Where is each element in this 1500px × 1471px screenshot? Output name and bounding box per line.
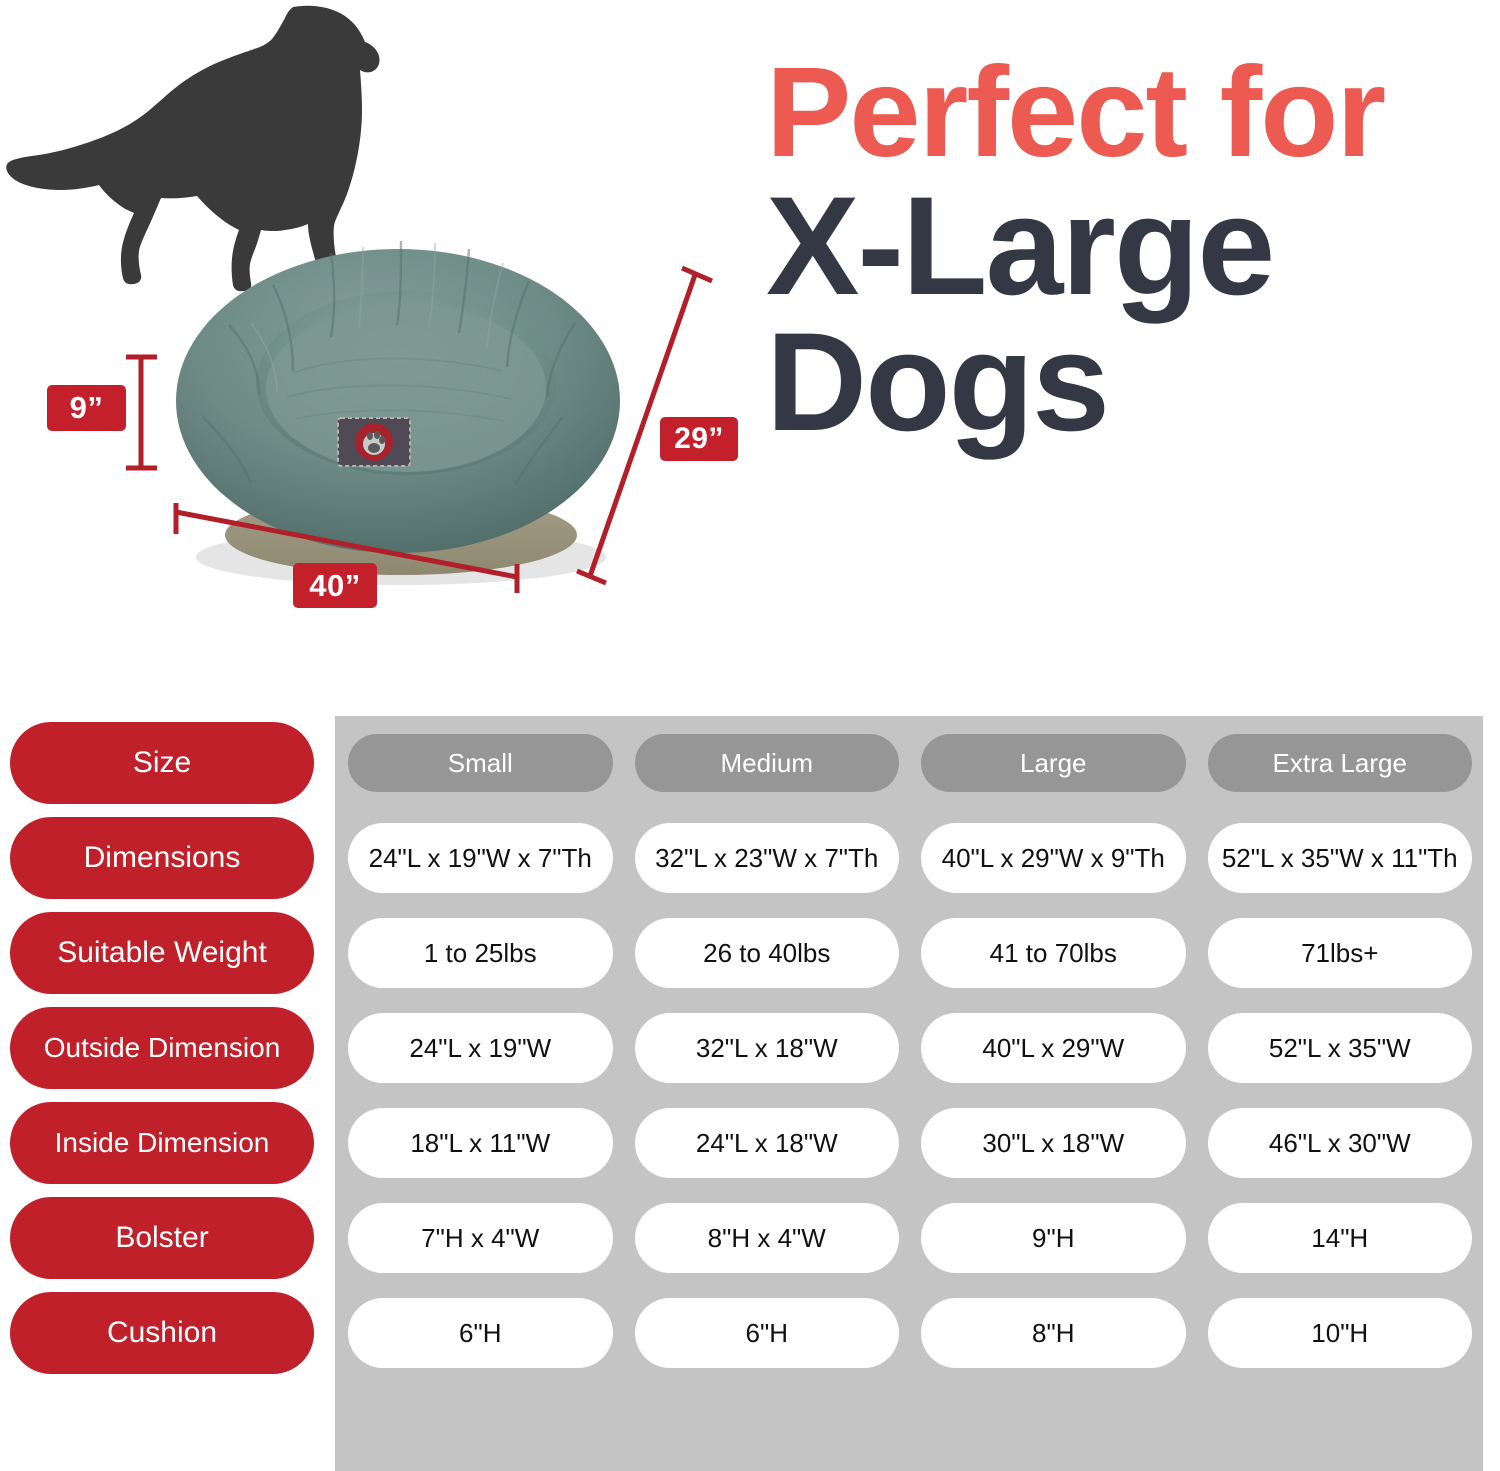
cell-suitable-weight-small: 1 to 25lbs xyxy=(348,918,613,988)
cell-bolster-large: 9"H xyxy=(921,1203,1186,1273)
headline-line-3: Dogs xyxy=(766,315,1496,449)
row-label-cushion: Cushion xyxy=(10,1292,314,1374)
row-label-inside-dimension: Inside Dimension xyxy=(10,1102,314,1184)
cell-suitable-weight-medium: 26 to 40lbs xyxy=(635,918,900,988)
table-header-row: Small Medium Large Extra Large xyxy=(348,722,1472,804)
table-row-label-column: Size Dimensions Suitable Weight Outside … xyxy=(10,722,314,1387)
cell-cushion-medium: 6"H xyxy=(635,1298,900,1368)
cell-cushion-extra-large: 10"H xyxy=(1208,1298,1473,1368)
headline-block: Perfect for X-Large Dogs xyxy=(766,52,1496,450)
table-row: 24"L x 19"W 32"L x 18"W 40"L x 29"W 52"L… xyxy=(348,1007,1472,1089)
column-header-large: Large xyxy=(921,734,1186,792)
cell-bolster-medium: 8"H x 4"W xyxy=(635,1203,900,1273)
column-header-medium: Medium xyxy=(635,734,900,792)
cell-outside-dimension-medium: 32"L x 18"W xyxy=(635,1013,900,1083)
dimension-badge-height: 9” xyxy=(47,385,126,431)
product-bed-image xyxy=(163,205,633,595)
cell-suitable-weight-large: 41 to 70lbs xyxy=(921,918,1186,988)
cell-dimensions-extra-large: 52"L x 35"W x 11"Th xyxy=(1208,823,1473,893)
dimension-badge-length: 40” xyxy=(293,563,377,608)
cell-dimensions-small: 24"L x 19"W x 7"Th xyxy=(348,823,613,893)
headline-line-1: Perfect for xyxy=(766,52,1496,175)
specification-table: Size Dimensions Suitable Weight Outside … xyxy=(0,700,1500,1471)
cell-inside-dimension-medium: 24"L x 18"W xyxy=(635,1108,900,1178)
dimension-badge-width: 29” xyxy=(660,417,738,461)
cell-cushion-large: 8"H xyxy=(921,1298,1186,1368)
table-row: 7"H x 4"W 8"H x 4"W 9"H 14"H xyxy=(348,1197,1472,1279)
row-label-dimensions: Dimensions xyxy=(10,817,314,899)
column-header-small: Small xyxy=(348,734,613,792)
table-row: 24"L x 19"W x 7"Th 32"L x 23"W x 7"Th 40… xyxy=(348,817,1472,899)
cell-inside-dimension-small: 18"L x 11"W xyxy=(348,1108,613,1178)
cell-outside-dimension-small: 24"L x 19"W xyxy=(348,1013,613,1083)
row-label-size: Size xyxy=(10,722,314,804)
table-row: 18"L x 11"W 24"L x 18"W 30"L x 18"W 46"L… xyxy=(348,1102,1472,1184)
cell-bolster-small: 7"H x 4"W xyxy=(348,1203,613,1273)
cell-outside-dimension-large: 40"L x 29"W xyxy=(921,1013,1186,1083)
cell-suitable-weight-extra-large: 71lbs+ xyxy=(1208,918,1473,988)
hero-section: 9” 40” 29” Perfect for X-Large Dogs xyxy=(0,0,1500,700)
cell-dimensions-large: 40"L x 29"W x 9"Th xyxy=(921,823,1186,893)
cell-inside-dimension-large: 30"L x 18"W xyxy=(921,1108,1186,1178)
cell-dimensions-medium: 32"L x 23"W x 7"Th xyxy=(635,823,900,893)
brand-tag-icon xyxy=(338,418,410,466)
table-data-grid: Small Medium Large Extra Large 24"L x 19… xyxy=(348,722,1472,1387)
headline-line-2: X-Large xyxy=(766,179,1496,313)
cell-bolster-extra-large: 14"H xyxy=(1208,1203,1473,1273)
row-label-suitable-weight: Suitable Weight xyxy=(10,912,314,994)
cell-cushion-small: 6"H xyxy=(348,1298,613,1368)
table-row: 1 to 25lbs 26 to 40lbs 41 to 70lbs 71lbs… xyxy=(348,912,1472,994)
column-header-extra-large: Extra Large xyxy=(1208,734,1473,792)
table-row: 6"H 6"H 8"H 10"H xyxy=(348,1292,1472,1374)
cell-outside-dimension-extra-large: 52"L x 35"W xyxy=(1208,1013,1473,1083)
row-label-outside-dimension: Outside Dimension xyxy=(10,1007,314,1089)
row-label-bolster: Bolster xyxy=(10,1197,314,1279)
cell-inside-dimension-extra-large: 46"L x 30"W xyxy=(1208,1108,1473,1178)
